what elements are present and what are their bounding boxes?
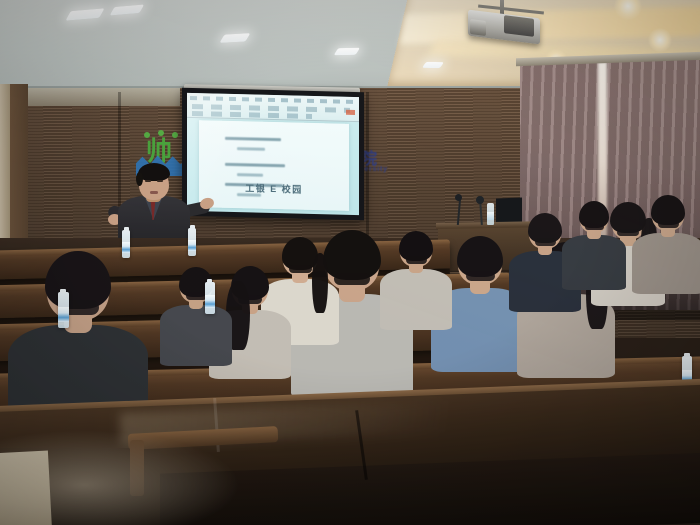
water-bottle-desk-left-2-label	[205, 295, 215, 308]
person-torso	[160, 305, 231, 366]
person-nape	[466, 271, 495, 281]
presenter-mouth	[150, 191, 158, 194]
person-nape	[617, 229, 639, 237]
person-torso	[562, 235, 627, 290]
floor	[0, 450, 52, 525]
slide-text-line	[225, 163, 285, 167]
water-bottle-table-a-label	[122, 242, 130, 253]
slide-content: 工银 E 校园	[199, 120, 349, 211]
slide-text-line	[237, 147, 265, 151]
slide-title: 工银 E 校园	[199, 180, 349, 197]
projection-screen: 工银 E 校园	[187, 93, 359, 215]
water-bottle-desk-left-label	[58, 307, 69, 321]
person-nape	[658, 220, 679, 227]
person-nape	[585, 224, 604, 231]
ribbon-commands	[192, 111, 312, 119]
projector-lens-icon	[470, 19, 486, 36]
water-bottle-table-a-cap	[124, 227, 129, 231]
person-nape	[334, 273, 370, 286]
logo-dot	[172, 132, 178, 138]
water-bottle-desk-left-cap	[60, 289, 66, 293]
water-bottle-desk-left-2-cap	[207, 279, 212, 283]
ceiling-downlight	[648, 28, 672, 52]
slide-text-line	[225, 137, 281, 141]
presenter-eye	[145, 180, 151, 182]
microphone-icon	[476, 196, 484, 204]
person-nape	[289, 265, 312, 273]
water-bottle-table-b-cap	[190, 225, 195, 229]
water-bottle-label	[487, 212, 494, 220]
person-nape	[535, 238, 556, 245]
lecture-hall-photo: 帅 学院 University 工银 E 校园	[0, 0, 700, 525]
presentation-app-ribbon	[187, 93, 359, 122]
microphone-icon	[455, 194, 462, 201]
presenter-eye	[157, 180, 163, 182]
person-torso	[380, 269, 451, 330]
person-long-hair	[312, 253, 328, 313]
projector-vent	[504, 15, 534, 37]
water-bottle-right-edge-cap	[684, 353, 690, 357]
person-torso	[632, 233, 700, 294]
water-bottle-table-b-label	[188, 240, 196, 251]
ribbon-accent-icon	[346, 110, 355, 115]
presenter-hair-side	[136, 172, 143, 186]
slide-text-line	[237, 173, 263, 177]
person-nape	[406, 256, 427, 263]
person-nape	[186, 292, 207, 299]
ribbon-tabs	[190, 96, 357, 104]
bench-post	[130, 440, 144, 496]
